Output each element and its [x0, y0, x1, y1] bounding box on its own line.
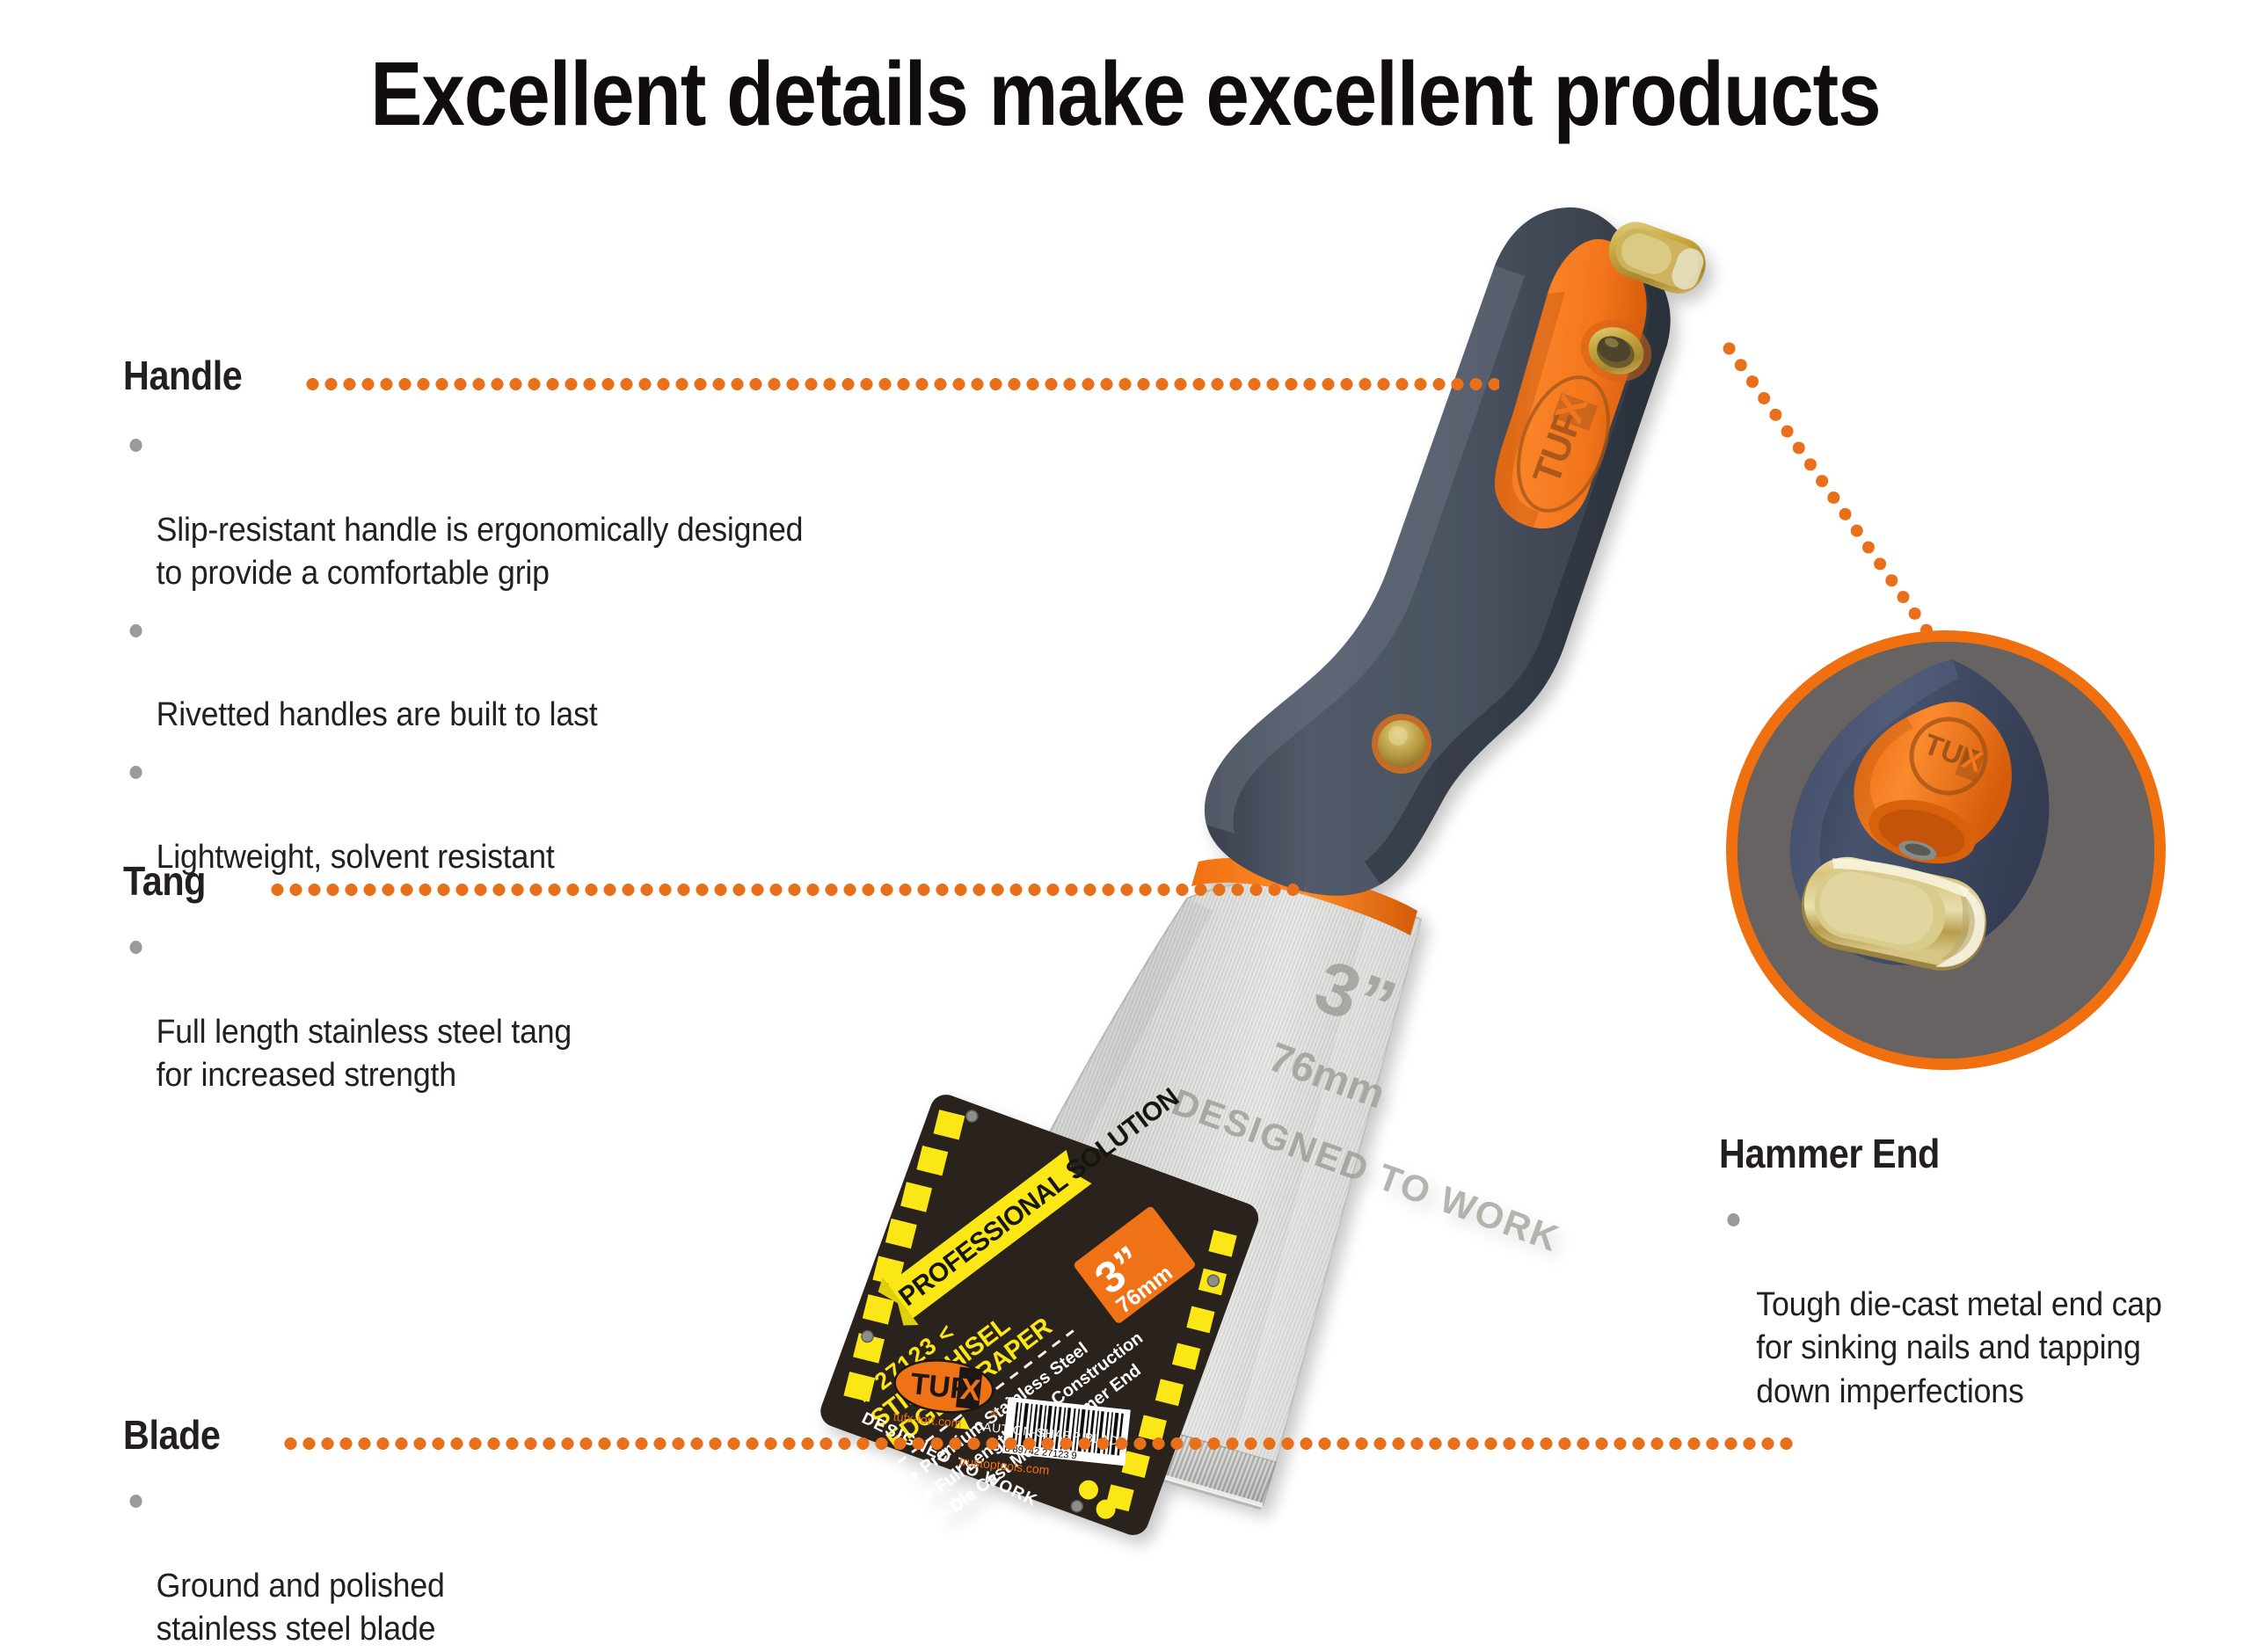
label-url-2: trustoptools.com: [958, 1454, 1050, 1478]
label-brand-mark: ®: [990, 1408, 998, 1420]
annotation-handle: Handle Slip-resistant handle is ergonomi…: [123, 352, 847, 879]
handle-brand-x: X: [1548, 389, 1597, 428]
bullet-dot-icon: [130, 941, 142, 954]
label-size-inches: 3”: [1086, 1236, 1153, 1304]
bullet-text: Tough die-cast metal end cap for sinking…: [1756, 1286, 2161, 1410]
bullet-text: Rivetted handles are built to last: [157, 696, 598, 733]
list-item: Rivetted handles are built to last: [123, 608, 803, 738]
blade-etch-size-mm: 76mm: [1264, 1033, 1392, 1117]
label-sku: > 27123 <: [852, 1318, 959, 1408]
label-url-1: tufx-tort.com: [892, 1409, 962, 1430]
annotation-blade-list: Ground and polished stainless steel blad…: [123, 1478, 465, 1652]
page-title: Excellent details make excellent product…: [157, 42, 2094, 146]
label-size-mm: 76mm: [1111, 1261, 1177, 1319]
bullet-dot-icon: [130, 766, 142, 779]
bullet-dot-icon: [1727, 1213, 1739, 1226]
handle-brand-text: TUF: [1525, 407, 1590, 490]
annotation-blade-heading: Blade: [123, 1411, 431, 1459]
annotation-hammer-end: Hammer End Tough die-cast metal end cap …: [1719, 1130, 2247, 1414]
bullet-dot-icon: [130, 624, 142, 637]
bullet-text: Full length stainless steel tang for inc…: [157, 1014, 572, 1094]
list-item: Tough die-cast metal end cap for sinking…: [1719, 1197, 2215, 1414]
label-brand: TUF: [909, 1367, 971, 1407]
annotation-handle-heading: Handle: [123, 352, 774, 399]
label-banner: PROFESSIONAL SOLUTION: [893, 1083, 1184, 1312]
leader-line-blade: [281, 1437, 1794, 1450]
list-item: Slip-resistant handle is ergonomically d…: [123, 422, 803, 596]
label-name-line1: STIFF CHISEL: [865, 1312, 1015, 1434]
list-item: Full length stainless steel tang for inc…: [123, 924, 572, 1098]
list-item: Ground and polished stainless steel blad…: [123, 1478, 445, 1652]
label-feature-2: Full Length Tang Construction: [932, 1328, 1147, 1497]
annotation-tang-list: Full length stainless steel tang for inc…: [123, 924, 601, 1098]
bullet-text: Slip-resistant handle is ergonomically d…: [157, 512, 804, 592]
annotation-tang: Tang Full length stainless steel tang fo…: [123, 857, 601, 1098]
blade-etch-tagline: DESIGNED TO WORK: [1167, 1081, 1565, 1259]
hammer-end-magnifier-callout: TUF X: [1726, 630, 2166, 1070]
label-tagline: DESIGNED TO WORK: [858, 1409, 1040, 1510]
annotation-handle-list: Slip-resistant handle is ergonomically d…: [123, 422, 847, 879]
annotation-blade: Blade Ground and polished stainless stee…: [123, 1411, 465, 1652]
label-feature-1: Premium Stainless Steel: [917, 1339, 1092, 1477]
label-brand-x: X: [958, 1372, 982, 1408]
annotation-hammer-end-list: Tough die-cast metal end cap for sinking…: [1719, 1197, 2247, 1414]
label-name-line2: EDGE SCRAPER: [881, 1313, 1057, 1455]
annotation-hammer-end-heading: Hammer End: [1719, 1130, 2194, 1177]
blade-etch-size-inches: 3”: [1305, 944, 1407, 1049]
bullet-dot-icon: [130, 439, 142, 452]
bullet-dot-icon: [130, 1495, 142, 1508]
bullet-text: Ground and polished stainless steel blad…: [157, 1568, 445, 1648]
annotation-tang-heading: Tang: [123, 857, 552, 905]
